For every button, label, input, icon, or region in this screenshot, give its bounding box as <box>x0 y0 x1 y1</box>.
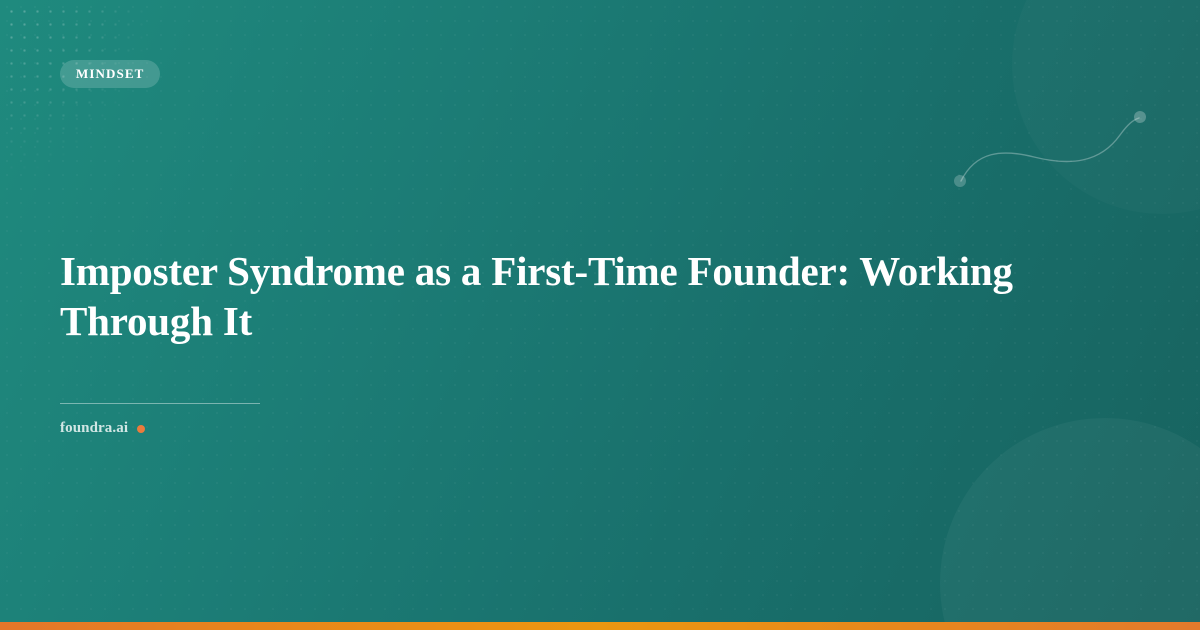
bottom-accent-bar <box>0 622 1200 630</box>
brand-row: foundra.ai <box>60 420 145 437</box>
social-share-card: MINDSET Imposter Syndrome as a First-Tim… <box>0 0 1200 630</box>
brand-name: foundra.ai <box>60 420 128 437</box>
page-title: Imposter Syndrome as a First-Time Founde… <box>60 246 1120 346</box>
category-badge[interactable]: MINDSET <box>60 60 160 88</box>
brand-dot-icon <box>137 425 145 433</box>
footer-divider <box>60 403 260 404</box>
card-content: MINDSET Imposter Syndrome as a First-Tim… <box>60 0 1140 630</box>
